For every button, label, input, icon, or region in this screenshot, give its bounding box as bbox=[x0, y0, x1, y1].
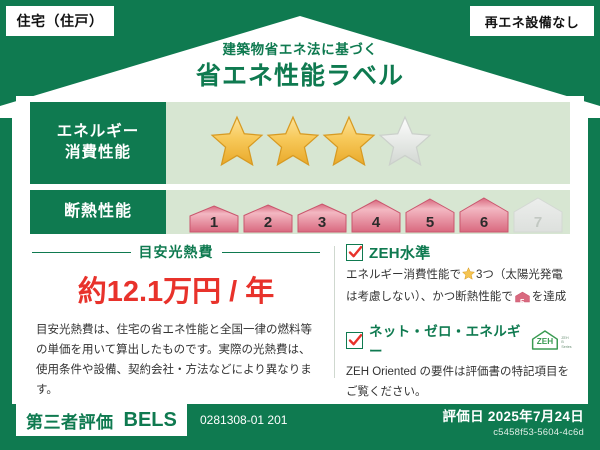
check-head-net-zero-energy: ネット・ゼロ・エネルギー ZEH ZEHB Series bbox=[346, 320, 574, 360]
insulation-badge-5: 5 bbox=[404, 197, 456, 234]
svg-text:ZEH: ZEH bbox=[537, 337, 553, 346]
utility-cost-note: 目安光熱費は、住宅の省エネ性能と全国一律の燃料等の単価を用いて算出したものです。… bbox=[32, 320, 320, 401]
zeh-body-end: を達成 bbox=[532, 291, 567, 303]
bels-number: 0281308-01 201 bbox=[200, 413, 287, 427]
energy-label-line1: エネルギー bbox=[57, 122, 140, 143]
bels-jp-label: 第三者評価 bbox=[26, 408, 114, 433]
star-filled-2 bbox=[266, 114, 320, 173]
zeh-body-part1: エネルギー消費性能で bbox=[346, 269, 461, 281]
label-subtitle: 建築物省エネ法に基づく bbox=[0, 38, 600, 58]
check-item-zeh-standard: ZEH水準 エネルギー消費性能で3つ（太陽光発電は考慮しない）、かつ断熱性能で5… bbox=[346, 242, 574, 310]
inline-badge-5-icon: 5 bbox=[515, 291, 530, 311]
check-item-net-zero-energy: ネット・ゼロ・エネルギー ZEH ZEHB Series ZEH Oriente… bbox=[346, 320, 574, 402]
bels-box: 第三者評価 BELS bbox=[16, 404, 187, 436]
badge-label-4: 4 bbox=[350, 214, 402, 231]
inline-star-icon bbox=[462, 271, 475, 283]
insulation-performance-row: 断熱性能 1 2 3 4 bbox=[30, 190, 570, 234]
insulation-badge-2: 2 bbox=[242, 203, 294, 234]
building-type-tag: 住宅（住戸） bbox=[6, 6, 114, 36]
star-filled-1 bbox=[210, 114, 264, 173]
zeh-logo-subtext: ZEHB Series bbox=[561, 336, 574, 351]
rule-left bbox=[32, 252, 131, 253]
label-title: 省エネ性能ラベル bbox=[0, 56, 600, 92]
bottom-bar: 第三者評価 BELS 0281308-01 201 評価日 2025年7月24日… bbox=[0, 396, 600, 450]
utility-cost-block: 目安光熱費 約12.1万円 / 年 目安光熱費は、住宅の省エネ性能と全国一律の燃… bbox=[32, 242, 320, 401]
energy-label-line2: 消費性能 bbox=[65, 143, 131, 164]
energy-stars-container bbox=[166, 102, 570, 184]
badge-label-7: 7 bbox=[512, 214, 564, 231]
check-body-zeh-standard: エネルギー消費性能で3つ（太陽光発電は考慮しない）、かつ断熱性能で5を達成 bbox=[346, 266, 574, 310]
badge-label-3: 3 bbox=[296, 214, 348, 231]
renewable-equipment-tag: 再エネ設備なし bbox=[470, 6, 594, 36]
star-filled-3 bbox=[322, 114, 376, 173]
insulation-badge-7: 7 bbox=[512, 196, 564, 234]
utility-cost-value: 約12.1万円 / 年 bbox=[32, 268, 320, 310]
zeh-logo-icon: ZEH ZEHB Series bbox=[531, 329, 574, 351]
badge-label-5: 5 bbox=[404, 214, 456, 231]
rule-right bbox=[222, 252, 321, 253]
inline-badge-value: 5 bbox=[515, 295, 530, 309]
check-head-zeh-standard: ZEH水準 bbox=[346, 242, 574, 263]
badge-label-2: 2 bbox=[242, 214, 294, 231]
checkbox-checked-icon[interactable] bbox=[346, 244, 363, 261]
evaluation-info: 評価日 2025年7月24日 c5458f53-5604-4c6d bbox=[442, 405, 584, 438]
evaluation-date: 評価日 2025年7月24日 bbox=[442, 405, 584, 425]
energy-performance-row: エネルギー 消費性能 bbox=[30, 102, 570, 184]
evaluation-id: c5458f53-5604-4c6d bbox=[442, 427, 584, 438]
badge-label-6: 6 bbox=[458, 214, 510, 231]
insulation-badge-6: 6 bbox=[458, 196, 510, 234]
badge-label-1: 1 bbox=[188, 214, 240, 231]
bels-en-label: BELS bbox=[124, 409, 177, 432]
insulation-badge-1: 1 bbox=[188, 204, 240, 234]
label-panel: エネルギー 消費性能 断熱性能 bbox=[16, 96, 584, 396]
insulation-performance-label: 断熱性能 bbox=[30, 190, 166, 234]
utility-cost-heading: 目安光熱費 bbox=[32, 242, 320, 262]
certification-checks: ZEH水準 エネルギー消費性能で3つ（太陽光発電は考慮しない）、かつ断熱性能で5… bbox=[346, 242, 574, 412]
column-divider bbox=[334, 246, 335, 378]
star-empty-4 bbox=[378, 114, 432, 173]
energy-performance-label: エネルギー 消費性能 bbox=[30, 102, 166, 184]
insulation-badges-container: 1 2 3 4 5 bbox=[166, 190, 570, 234]
checkbox-checked-icon-2[interactable] bbox=[346, 332, 363, 349]
utility-cost-heading-text: 目安光熱費 bbox=[139, 242, 214, 262]
check-title-net-zero-energy: ネット・ゼロ・エネルギー bbox=[369, 320, 523, 360]
insulation-badge-3: 3 bbox=[296, 202, 348, 234]
insulation-badge-4: 4 bbox=[350, 198, 402, 234]
check-title-zeh-standard: ZEH水準 bbox=[369, 242, 431, 263]
energy-performance-label: 住宅（住戸） 再エネ設備なし 建築物省エネ法に基づく 省エネ性能ラベル エネルギ… bbox=[0, 0, 600, 450]
